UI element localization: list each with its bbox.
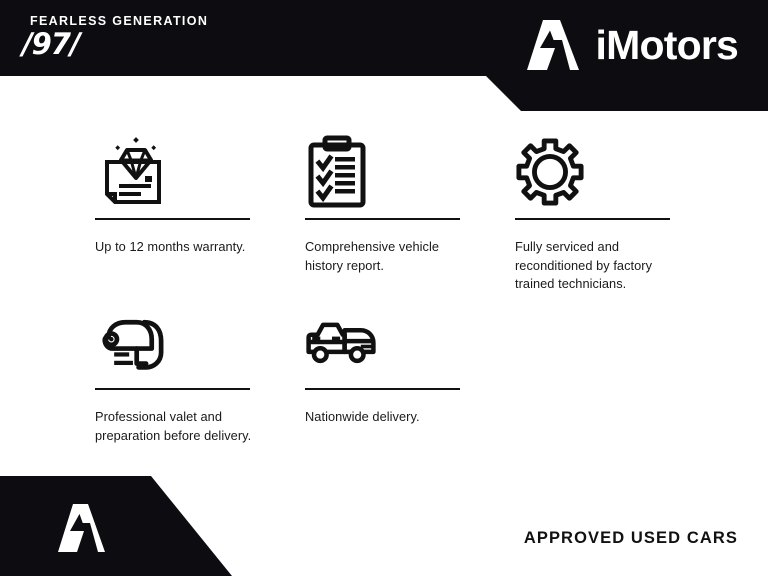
feature-divider <box>95 218 250 220</box>
feature-divider <box>515 218 670 220</box>
feature-item: Comprehensive vehicle history report. <box>305 132 480 275</box>
feature-text: Fully serviced and reconditioned by fact… <box>515 238 675 294</box>
feature-text: Nationwide delivery. <box>305 408 465 427</box>
promo-banner: FEARLESS GENERATION /97/ iMotors <box>0 0 768 576</box>
imotors-chevron-icon <box>522 14 584 76</box>
feature-item: Fully serviced and reconditioned by fact… <box>515 132 690 294</box>
certificate-diamond-icon <box>95 132 270 212</box>
brand-name: iMotors <box>596 25 738 66</box>
feature-divider <box>305 388 460 390</box>
feature-divider <box>95 388 250 390</box>
feature-item: Nationwide delivery. <box>305 302 480 427</box>
feature-text: Professional valet and preparation befor… <box>95 408 255 445</box>
header-year-mark: /97/ <box>22 27 80 61</box>
feature-text: Up to 12 months warranty. <box>95 238 255 257</box>
vacuum-cleaner-icon <box>95 302 270 382</box>
features-grid: Up to 12 months warranty. <box>0 112 768 472</box>
clipboard-checklist-icon <box>305 132 480 212</box>
feature-item: Up to 12 months warranty. <box>95 132 270 257</box>
feature-item: Professional valet and preparation befor… <box>95 302 270 445</box>
brand-lockup: iMotors <box>522 14 738 76</box>
car-transporter-truck-icon <box>305 302 480 382</box>
feature-divider <box>305 218 460 220</box>
header-tagline: FEARLESS GENERATION <box>30 14 208 28</box>
footer-tagline: APPROVED USED CARS <box>524 529 738 548</box>
gear-icon <box>515 132 690 212</box>
feature-text: Comprehensive vehicle history report. <box>305 238 465 275</box>
footer-background <box>0 476 232 576</box>
imotors-chevron-icon <box>55 500 109 558</box>
